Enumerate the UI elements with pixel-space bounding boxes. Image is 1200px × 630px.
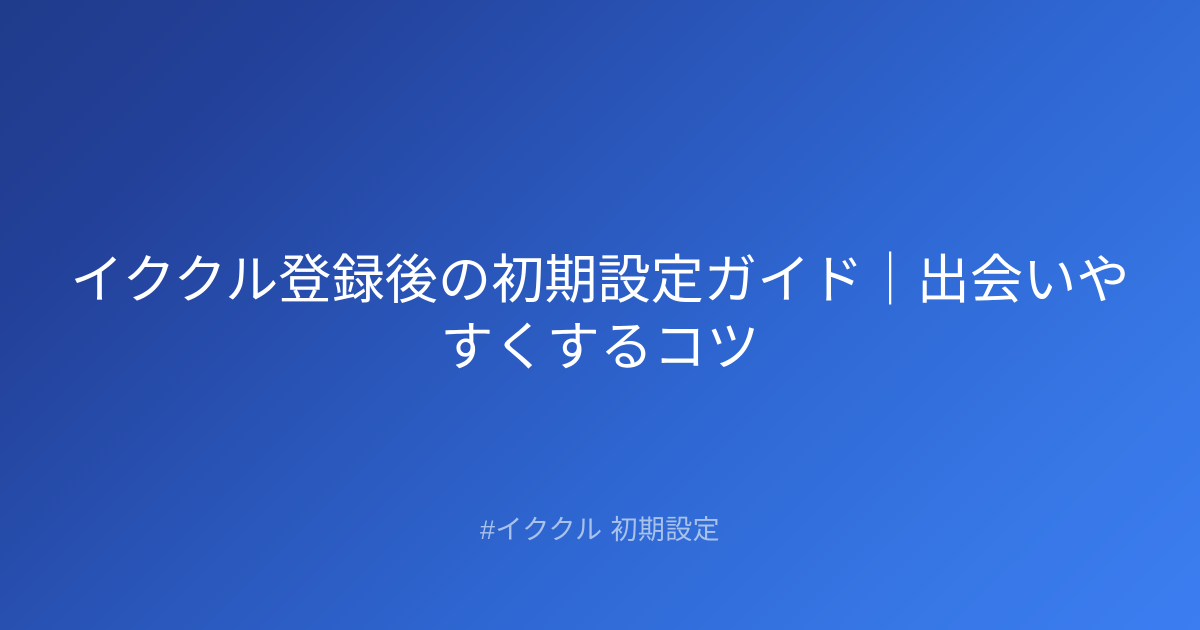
og-share-card: イククル登録後の初期設定ガイド｜出会いやすくするコツ #イククル 初期設定 [0,0,1200,630]
page-title: イククル登録後の初期設定ガイド｜出会いやすくするコツ [54,248,1146,382]
hashtag-label: #イククル 初期設定 [480,512,720,548]
tag-container: #イククル 初期設定 [0,512,1200,548]
